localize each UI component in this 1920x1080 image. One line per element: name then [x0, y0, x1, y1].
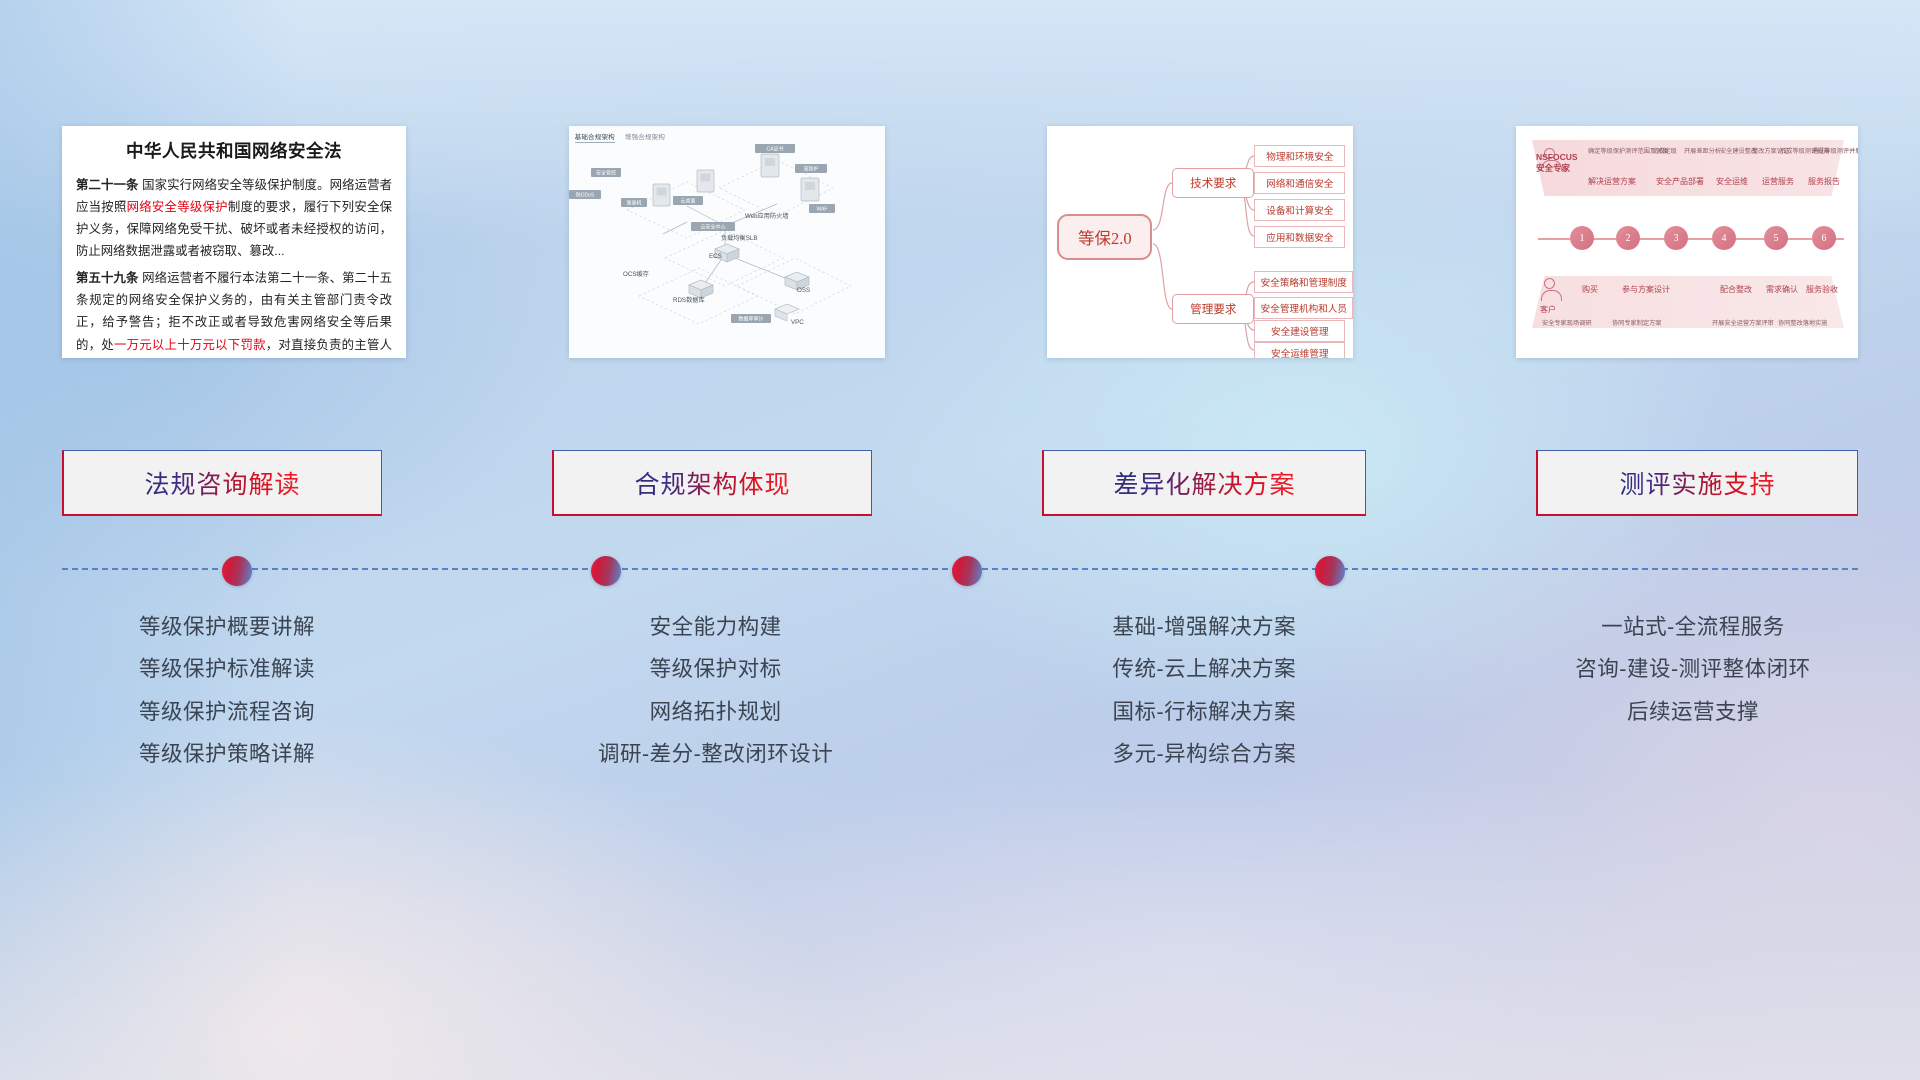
svg-text:防DDoS: 防DDoS: [575, 192, 594, 199]
list-item: 传统-云上解决方案: [1039, 649, 1369, 692]
svg-text:高防IP: 高防IP: [803, 166, 818, 173]
svg-text:OCS缓存: OCS缓存: [623, 270, 649, 278]
headline-box-regulation-consulting[interactable]: 法规咨询解读: [62, 450, 382, 516]
mind-map-leaf[interactable]: 物理和环境安全: [1254, 145, 1345, 167]
svg-text:数据库审计: 数据库审计: [738, 316, 763, 323]
svg-text:云桌面: 云桌面: [680, 198, 695, 205]
detail-column-compliance-architecture: 安全能力构建 等级保护对标 网络拓扑规划 调研-差分-整改闭环设计: [551, 606, 881, 776]
svg-text:WAF: WAF: [816, 207, 827, 213]
mind-map-leaf[interactable]: 网络和通信安全: [1254, 172, 1345, 194]
list-item: 咨询-建设-测评整体闭环: [1528, 649, 1858, 692]
timeline-bottom-item: 购买: [1582, 284, 1598, 295]
headline-box-compliance-architecture[interactable]: 合规架构体现: [552, 450, 872, 516]
timeline-step-node[interactable]: 3: [1664, 226, 1688, 250]
architecture-tab-basic[interactable]: 基础合规架构: [575, 134, 615, 143]
svg-text:堡垒机: 堡垒机: [626, 200, 641, 207]
law-run-highlight: 一万元以上十万元以下罚款: [114, 338, 266, 352]
law-paragraph: 第二十一条 国家实行网络安全等级保护制度。网络运营者应当按照网络安全等级保护制度…: [76, 174, 392, 262]
timeline-step-node[interactable]: 1: [1570, 226, 1594, 250]
law-document-title: 中华人民共和国网络安全法: [76, 138, 392, 163]
list-item: 网络拓扑规划: [551, 691, 881, 734]
timeline-bottom-item: 需求确认: [1766, 284, 1798, 295]
mind-map-root-node[interactable]: 等保2.0: [1057, 214, 1152, 260]
timeline-bottom-note: 开展安全运营方案评审: [1712, 318, 1774, 327]
list-item: 国标-行标解决方案: [1039, 691, 1369, 734]
preview-card-mind-map[interactable]: 等保2.0 技术要求 管理要求 物理和环境安全 网络和通信安全 设备和计算安全 …: [1047, 126, 1353, 358]
timeline-step-node[interactable]: 2: [1616, 226, 1640, 250]
dashed-timeline: [62, 568, 1858, 570]
customer-avatar-icon: [1544, 278, 1555, 289]
svg-text:OSS: OSS: [797, 287, 810, 294]
timeline-top-item: 完成定级: [1652, 146, 1677, 155]
svg-text:VPC: VPC: [791, 319, 804, 326]
timeline-dot-4[interactable]: [1315, 556, 1345, 586]
mind-map-leaf[interactable]: 设备和计算安全: [1254, 199, 1345, 221]
timeline-bottom-note: 安全专家现场调研: [1542, 318, 1592, 327]
service-timeline-diagram: NSFOCUS 安全专家 确定等级保护测评范围及对象 完成定级 开展差距分析 安…: [1516, 126, 1858, 358]
list-item: 多元-异构综合方案: [1039, 734, 1369, 777]
list-item: 等级保护概要讲解: [62, 606, 392, 649]
mind-map-leaf[interactable]: 安全策略和管理制度: [1254, 271, 1353, 293]
list-item: 一站式-全流程服务: [1528, 606, 1858, 649]
timeline-top-item: 开展差距分析: [1684, 146, 1721, 155]
timeline-bottom-item: 服务验收: [1806, 284, 1838, 295]
headline-label: 差异化解决方案: [1113, 465, 1295, 501]
timeline-top-heading: 安全产品部署: [1656, 176, 1704, 187]
timeline-bottom-note: 协同专家制定方案: [1612, 318, 1662, 327]
headline-row: 法规咨询解读 合规架构体现 差异化解决方案 测评实施支持: [62, 450, 1858, 516]
mind-map-diagram: 等保2.0 技术要求 管理要求 物理和环境安全 网络和通信安全 设备和计算安全 …: [1047, 126, 1353, 358]
list-item: 等级保护标准解读: [62, 649, 392, 692]
timeline-step-node[interactable]: 6: [1812, 226, 1836, 250]
nsfocus-logo: NSFOCUS 安全专家: [1536, 152, 1578, 173]
architecture-tab-strip: 基础合规架构 增强合规架构: [575, 131, 673, 141]
timeline-dot-1[interactable]: [222, 556, 252, 586]
headline-box-assessment-support[interactable]: 测评实施支持: [1536, 450, 1858, 516]
law-article-number: 第二十一条: [76, 178, 139, 192]
law-article-number: 第五十九条: [76, 271, 139, 285]
timeline-top-heading: 解决运营方案: [1588, 176, 1636, 187]
headline-label: 测评实施支持: [1619, 465, 1775, 501]
timeline-top-heading: 运营服务: [1762, 176, 1794, 187]
list-item: 安全能力构建: [551, 606, 881, 649]
svg-text:CA证书: CA证书: [766, 146, 783, 153]
mind-map-branch-management[interactable]: 管理要求: [1172, 294, 1254, 324]
detail-column-assessment-support: 一站式-全流程服务 咨询-建设-测评整体闭环 后续运营支撑: [1528, 606, 1858, 776]
svg-text:云安全中心: 云安全中心: [700, 224, 725, 231]
timeline-bottom-item: 配合整改: [1720, 284, 1752, 295]
timeline-dot-2[interactable]: [591, 556, 621, 586]
svg-text:RDS数据库: RDS数据库: [673, 296, 705, 304]
detail-column-differentiated-solution: 基础-增强解决方案 传统-云上解决方案 国标-行标解决方案 多元-异构综合方案: [1039, 606, 1369, 776]
detail-list-row: 等级保护概要讲解 等级保护标准解读 等级保护流程咨询 等级保护策略详解 安全能力…: [62, 606, 1858, 776]
list-item: 等级保护对标: [551, 649, 881, 692]
preview-card-service-timeline[interactable]: NSFOCUS 安全专家 确定等级保护测评范围及对象 完成定级 开展差距分析 安…: [1516, 126, 1858, 358]
svg-text:负载均衡SLB: 负载均衡SLB: [721, 234, 757, 242]
customer-role-label: 客户: [1540, 304, 1556, 315]
headline-label: 法规咨询解读: [144, 465, 300, 501]
timeline-step-node[interactable]: 5: [1764, 226, 1788, 250]
headline-label: 合规架构体现: [634, 465, 790, 501]
nsfocus-logo-line1: NSFOCUS: [1536, 152, 1578, 163]
timeline-dot-3[interactable]: [952, 556, 982, 586]
nsfocus-logo-line2: 安全专家: [1536, 163, 1578, 174]
list-item: 基础-增强解决方案: [1039, 606, 1369, 649]
law-run-highlight: 网络安全等级保护: [127, 200, 228, 214]
mind-map-leaf[interactable]: 安全建设管理: [1254, 320, 1345, 342]
mind-map-branch-technical[interactable]: 技术要求: [1172, 168, 1254, 198]
timeline-step-node[interactable]: 4: [1712, 226, 1736, 250]
timeline-top-heading: 服务报告: [1808, 176, 1840, 187]
mind-map-leaf[interactable]: 安全运维管理: [1254, 342, 1345, 358]
cloud-architecture-diagram: 基础合规架构 增强合规架构: [569, 126, 885, 358]
architecture-tab-enhanced[interactable]: 增强合规架构: [625, 134, 665, 141]
list-item: 后续运营支撑: [1528, 691, 1858, 734]
mind-map-leaf[interactable]: 应用和数据安全: [1254, 226, 1345, 248]
detail-column-regulation-consulting: 等级保护概要讲解 等级保护标准解读 等级保护流程咨询 等级保护策略详解: [62, 606, 392, 776]
architecture-isometric-svg: 安全管控 堡垒机 云桌面 防DDoS WAF CA证书 高防IP 云安全中心 数…: [569, 126, 885, 358]
background-bottom-haze: [0, 780, 1920, 1080]
timeline-bottom-item: 参与方案设计: [1622, 284, 1670, 295]
svg-text:安全管控: 安全管控: [596, 170, 616, 177]
preview-card-law-document[interactable]: 中华人民共和国网络安全法 第二十一条 国家实行网络安全等级保护制度。网络运营者应…: [62, 126, 406, 358]
svg-text:ECS: ECS: [709, 253, 722, 260]
preview-card-row: 中华人民共和国网络安全法 第二十一条 国家实行网络安全等级保护制度。网络运营者应…: [62, 126, 1858, 358]
law-document-body: 中华人民共和国网络安全法 第二十一条 国家实行网络安全等级保护制度。网络运营者应…: [62, 126, 406, 358]
timeline-top-heading: 安全运维: [1716, 176, 1748, 187]
list-item: 等级保护流程咨询: [62, 691, 392, 734]
list-item: 等级保护策略详解: [62, 734, 392, 777]
headline-box-differentiated-solution[interactable]: 差异化解决方案: [1042, 450, 1366, 516]
svg-text:Web应用防火墙: Web应用防火墙: [745, 212, 789, 220]
timeline-bottom-note: 协同整改落地实施: [1778, 318, 1828, 327]
preview-card-cloud-architecture[interactable]: 基础合规架构 增强合规架构: [569, 126, 885, 358]
mind-map-leaf[interactable]: 安全管理机构和人员: [1254, 297, 1353, 319]
list-item: 调研-差分-整改闭环设计: [551, 734, 881, 777]
timeline-top-item: 通过等级测评并取得证书: [1812, 146, 1858, 155]
law-paragraph: 第五十九条 网络运营者不履行本法第二十一条、第二十五条规定的网络安全保护义务的，…: [76, 267, 392, 358]
